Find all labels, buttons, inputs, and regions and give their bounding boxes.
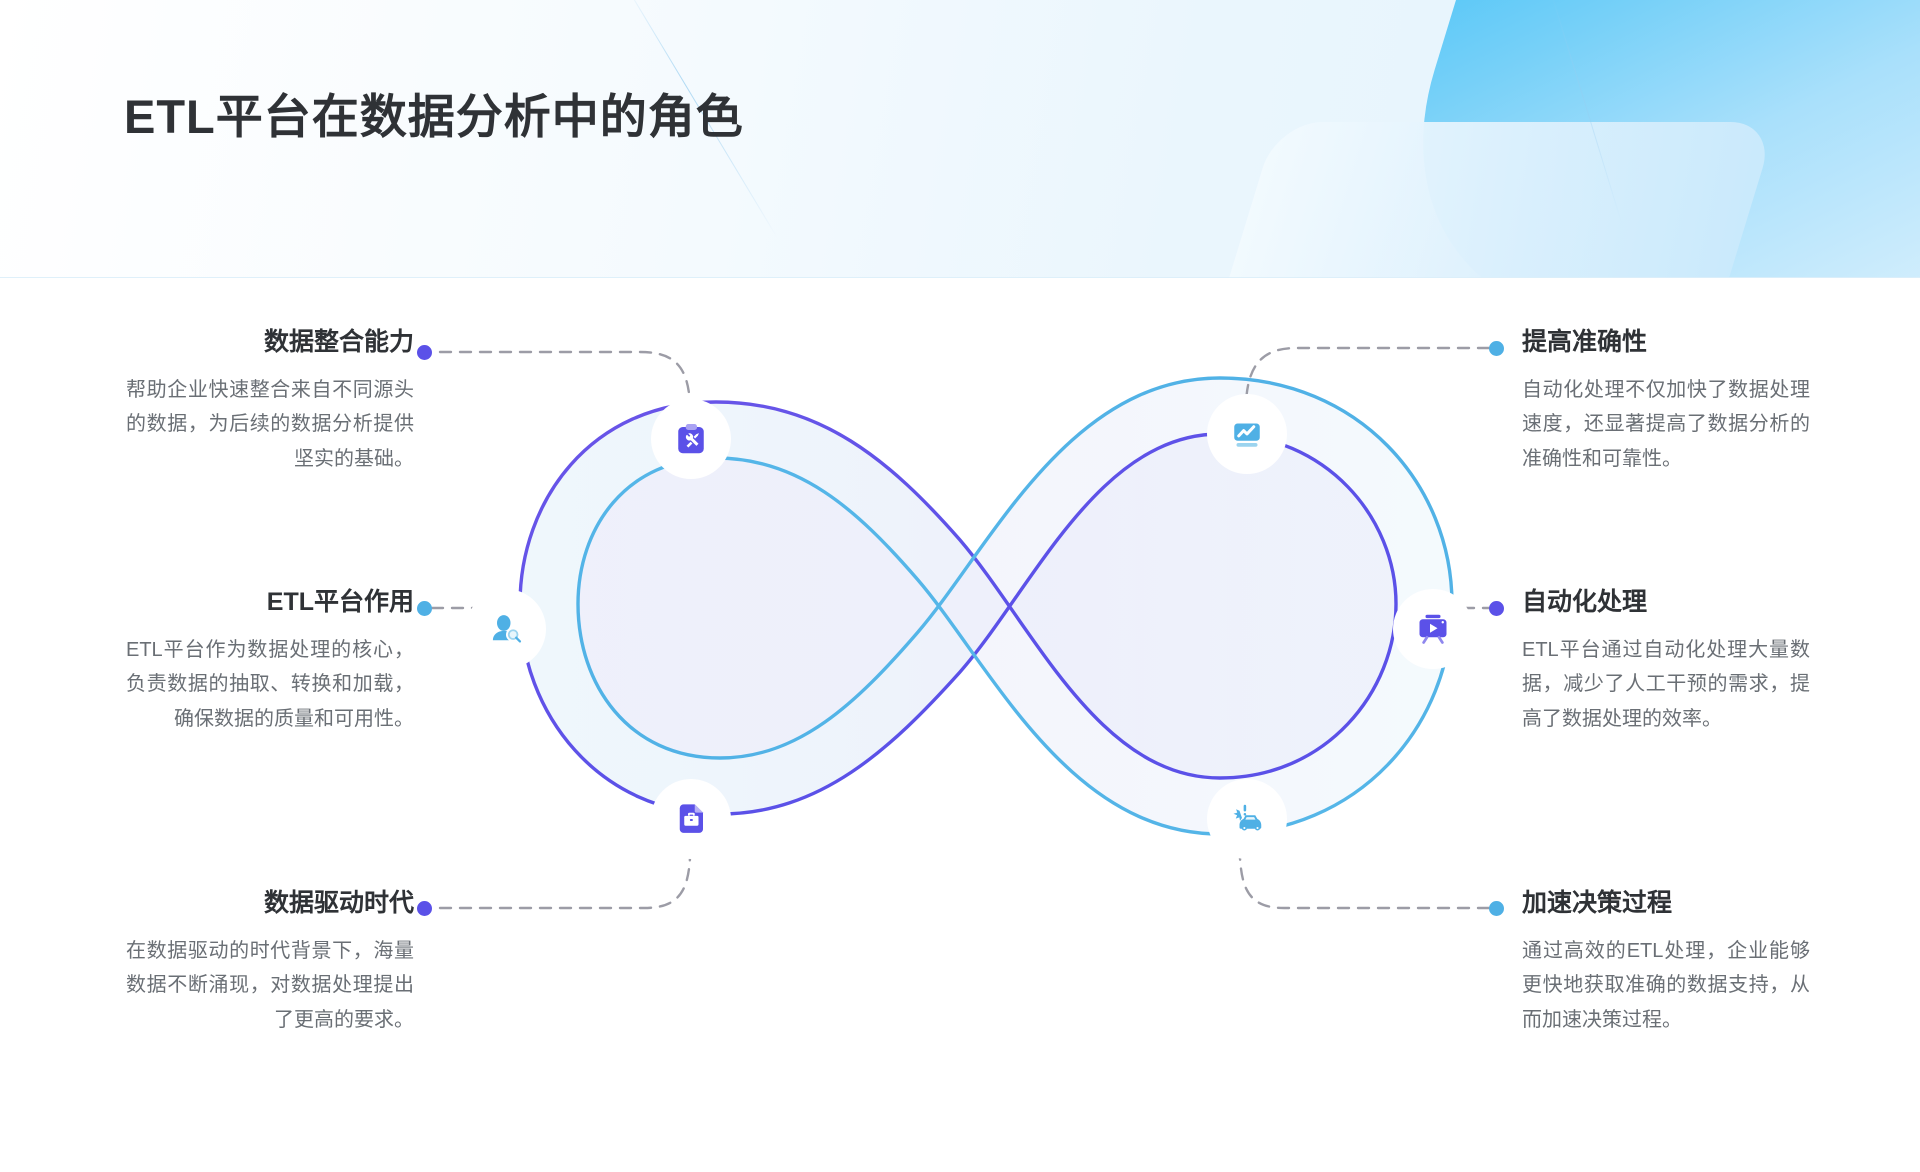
connector-left-bottom bbox=[440, 858, 690, 908]
node-car-crash[interactable] bbox=[1216, 788, 1278, 850]
info-block-left-1: 数据整合能力 帮助企业快速整合来自不同源头的数据，为后续的数据分析提供坚实的基础… bbox=[126, 327, 414, 476]
bullet-dot-right-1 bbox=[1489, 341, 1504, 356]
info-block-right-3-body: 通过高效的ETL处理，企业能够更快地获取准确的数据支持，从而加速决策过程。 bbox=[1522, 934, 1810, 1037]
bullet-dot-left-3 bbox=[417, 901, 432, 916]
info-block-left-3-body: 在数据驱动的时代背景下，海量数据不断涌现，对数据处理提出了更高的要求。 bbox=[126, 934, 414, 1037]
clipboard-tools-icon bbox=[673, 421, 709, 457]
node-user-search[interactable] bbox=[475, 598, 537, 660]
node-chart-monitor[interactable] bbox=[1216, 403, 1278, 465]
info-block-left-3-heading: 数据驱动时代 bbox=[126, 888, 414, 918]
info-block-right-3-heading: 加速决策过程 bbox=[1522, 888, 1810, 918]
info-block-right-2-heading: 自动化处理 bbox=[1522, 587, 1810, 617]
user-search-icon bbox=[488, 611, 524, 647]
node-clipboard-tools[interactable] bbox=[660, 408, 722, 470]
chart-monitor-icon bbox=[1229, 416, 1265, 452]
info-block-right-2: 自动化处理 ETL平台通过自动化处理大量数据，减少了人工干预的需求，提高了数据处… bbox=[1522, 587, 1810, 736]
info-block-right-1-body: 自动化处理不仅加快了数据处理速度，还显著提高了数据分析的准确性和可靠性。 bbox=[1522, 373, 1810, 476]
node-presentation-play[interactable] bbox=[1402, 598, 1464, 660]
info-block-left-3: 数据驱动时代 在数据驱动的时代背景下，海量数据不断涌现，对数据处理提出了更高的要… bbox=[126, 888, 414, 1037]
info-block-left-1-body: 帮助企业快速整合来自不同源头的数据，为后续的数据分析提供坚实的基础。 bbox=[126, 373, 414, 476]
info-block-right-1: 提高准确性 自动化处理不仅加快了数据处理速度，还显著提高了数据分析的准确性和可靠… bbox=[1522, 327, 1810, 476]
connector-left-top bbox=[440, 352, 690, 404]
info-block-right-3: 加速决策过程 通过高效的ETL处理，企业能够更快地获取准确的数据支持，从而加速决… bbox=[1522, 888, 1810, 1037]
info-block-left-2-body: ETL平台作为数据处理的核心，负责数据的抽取、转换和加载，确保数据的质量和可用性… bbox=[126, 633, 414, 736]
bullet-dot-left-2 bbox=[417, 601, 432, 616]
node-document-briefcase[interactable] bbox=[660, 788, 722, 850]
car-crash-icon bbox=[1229, 801, 1265, 837]
bullet-dot-right-2 bbox=[1489, 601, 1504, 616]
info-block-left-2-heading: ETL平台作用 bbox=[126, 587, 414, 617]
connector-right-bottom bbox=[1240, 858, 1489, 908]
page-title: ETL平台在数据分析中的角色 bbox=[124, 78, 744, 147]
document-briefcase-icon bbox=[673, 801, 709, 837]
info-block-left-2: ETL平台作用 ETL平台作为数据处理的核心，负责数据的抽取、转换和加载，确保数… bbox=[126, 587, 414, 736]
info-block-right-2-body: ETL平台通过自动化处理大量数据，减少了人工干预的需求，提高了数据处理的效率。 bbox=[1522, 633, 1810, 736]
presentation-play-icon bbox=[1415, 611, 1451, 647]
bullet-dot-right-3 bbox=[1489, 901, 1504, 916]
connector-right-top bbox=[1246, 348, 1489, 402]
bullet-dot-left-1 bbox=[417, 345, 432, 360]
info-block-right-1-heading: 提高准确性 bbox=[1522, 327, 1810, 357]
info-block-left-1-heading: 数据整合能力 bbox=[126, 327, 414, 357]
